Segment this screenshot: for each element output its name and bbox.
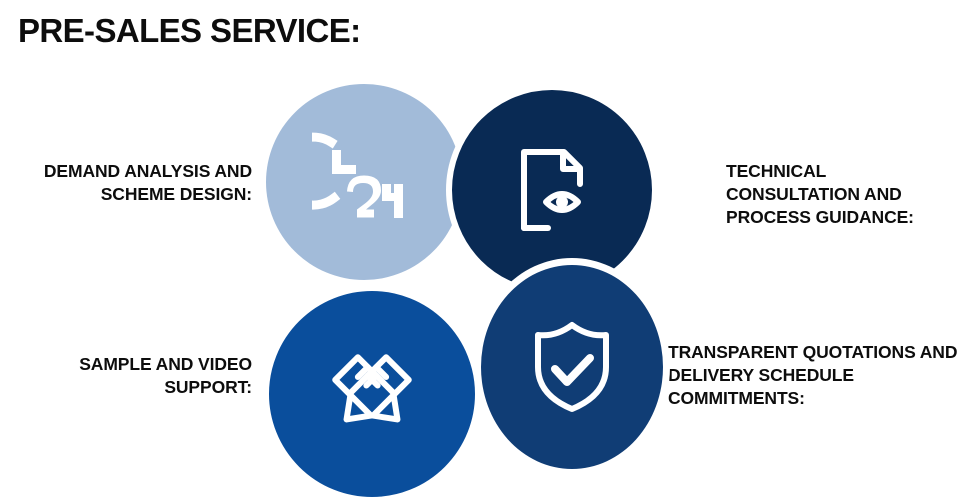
clock-24-hours-icon bbox=[312, 132, 416, 232]
crossed-pens-icon bbox=[320, 342, 424, 446]
document-eye-icon bbox=[502, 140, 602, 240]
circle-cluster bbox=[262, 78, 672, 488]
label-transparent-quotations: TRANSPARENT QUOTATIONS AND DELIVERY SCHE… bbox=[668, 341, 960, 410]
shield-check-icon bbox=[522, 315, 622, 419]
circle-transparent-quotations[interactable] bbox=[474, 258, 670, 476]
page-title: PRE-SALES SERVICE: bbox=[18, 12, 361, 50]
label-sample-video-support: SAMPLE AND VIDEO SUPPORT: bbox=[10, 353, 252, 399]
circle-sample-video-support[interactable] bbox=[262, 284, 482, 504]
circle-demand-analysis[interactable] bbox=[266, 84, 462, 280]
label-technical-consultation: TECHNICAL CONSULTATION AND PROCESS GUIDA… bbox=[726, 160, 958, 229]
label-demand-analysis: DEMAND ANALYSIS AND SCHEME DESIGN: bbox=[10, 160, 252, 206]
